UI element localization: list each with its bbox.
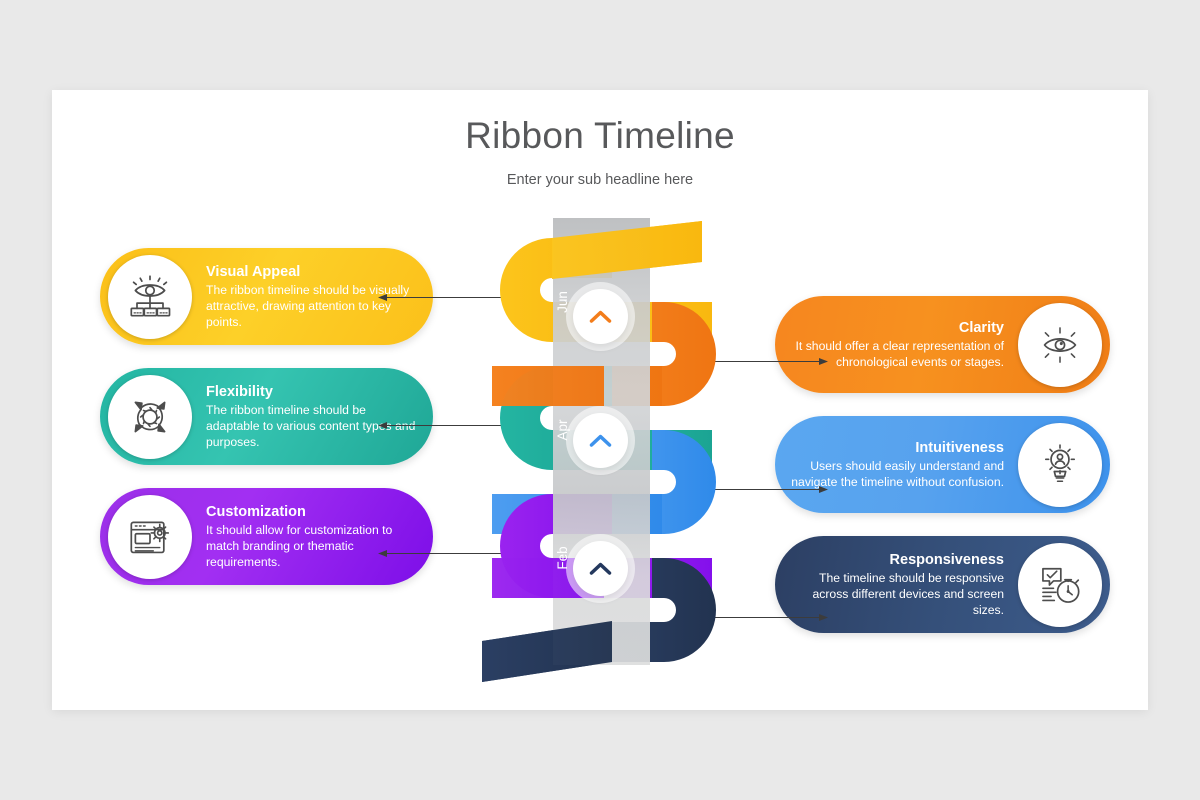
chevron-up-icon xyxy=(587,427,614,454)
timeline-badge-1[interactable] xyxy=(573,289,628,344)
chevron-up-icon xyxy=(587,303,614,330)
timeline-badge-2[interactable] xyxy=(573,413,628,468)
chevron-up-icon xyxy=(587,555,614,582)
timeline-badge-3[interactable] xyxy=(573,541,628,596)
slide-canvas: Ribbon Timeline Enter your sub headline … xyxy=(52,90,1148,710)
